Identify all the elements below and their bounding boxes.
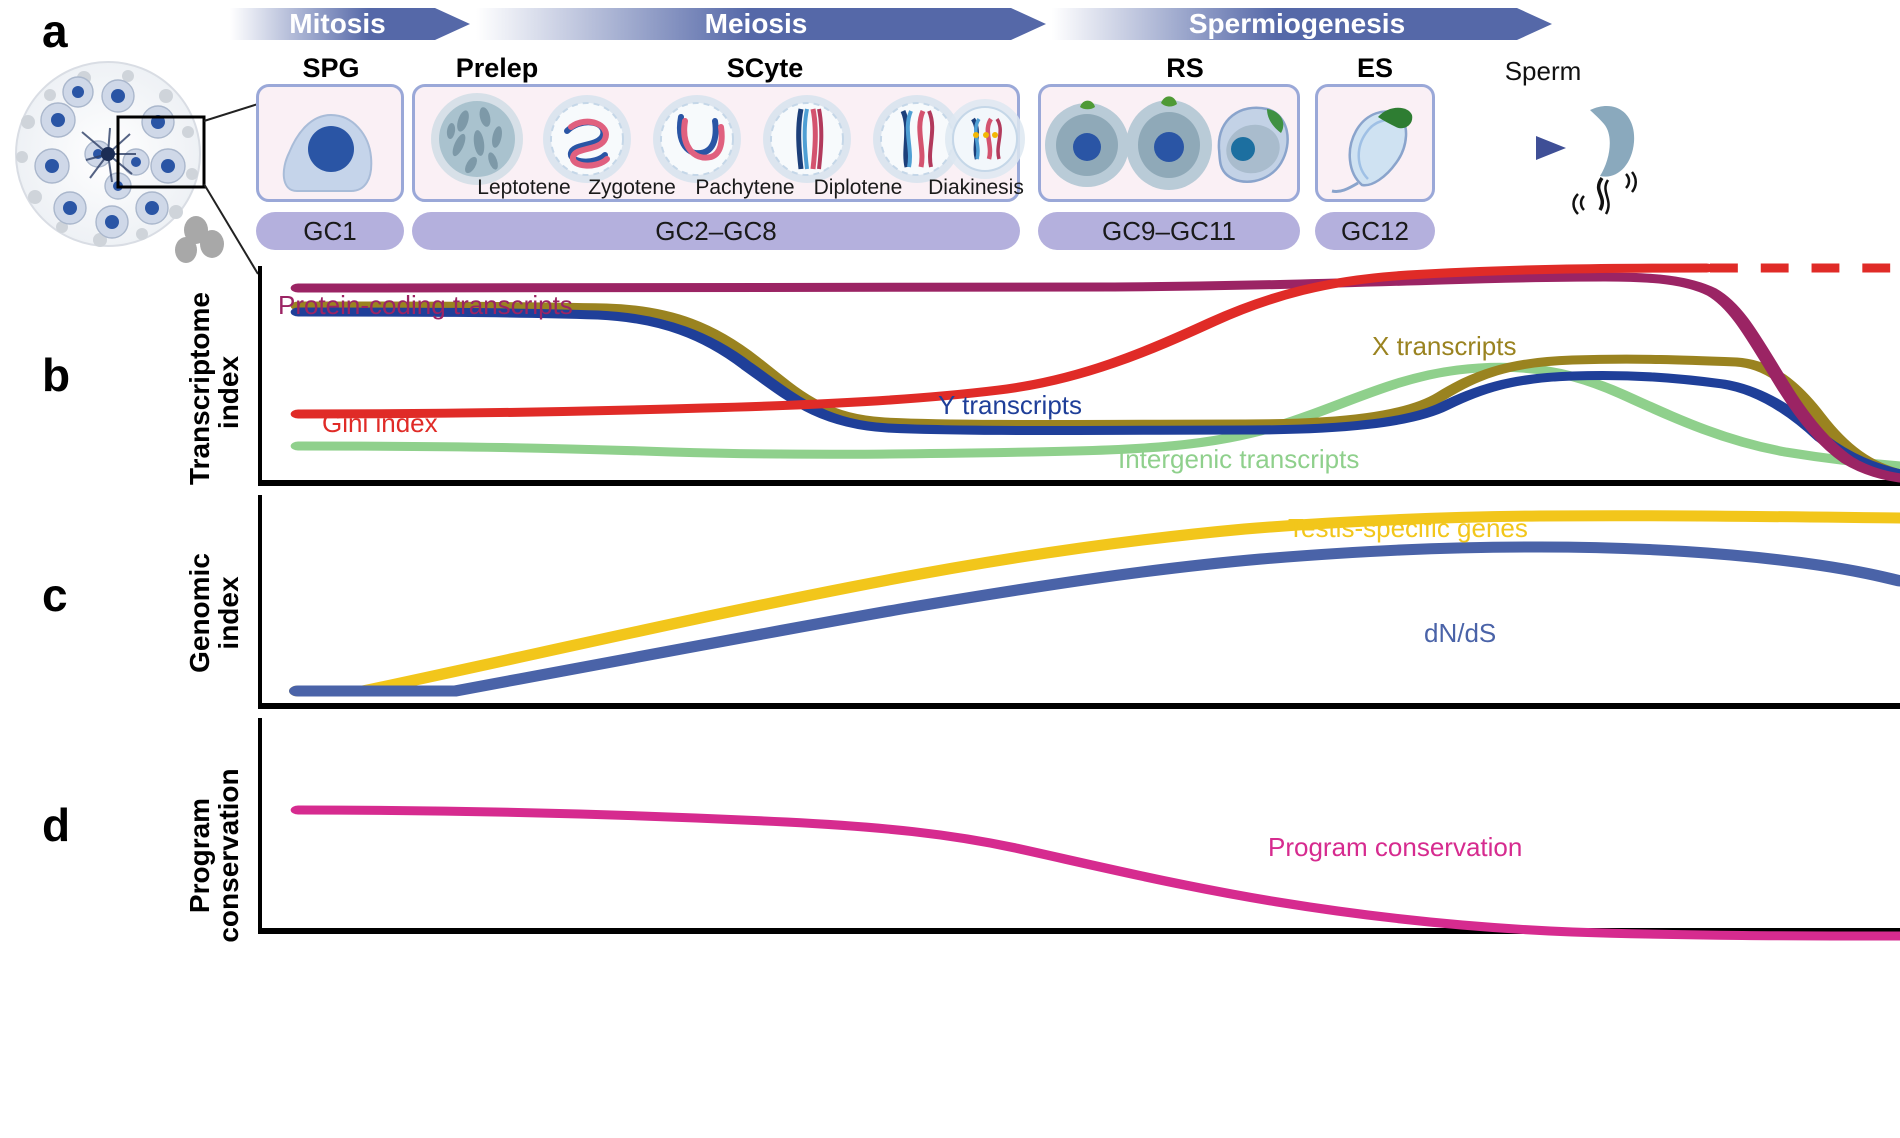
curve-label-protein-coding-transcripts: Protein-coding transcripts [278,290,573,321]
panel-c-ylabel: Genomic index [185,518,225,708]
curve-dn-ds [298,547,1900,691]
curve-label-gini-index: Gini index [322,408,438,439]
stage-arrow-label: Mitosis [289,8,385,40]
gc-bar-gc9-gc11: GC9–GC11 [1038,212,1300,250]
gc-bar-label: GC12 [1341,216,1409,247]
stage-arrow-label: Meiosis [705,8,808,40]
sperm-label: Sperm [1468,56,1618,87]
stage-name-prelep: Prelep [412,53,582,84]
gc-bar-label: GC2–GC8 [655,216,776,247]
panel-letter-d: d [42,802,70,848]
cell-box-es [1315,84,1435,202]
curve-label-y-transcripts: Y transcripts [938,390,1082,421]
gc-bar-gc12: GC12 [1315,212,1435,250]
curve-testis-specific-genes [298,516,1900,691]
panel-b-ylabel: Transcriptome index [185,300,225,485]
gc-bar-gc1: GC1 [256,212,404,250]
stage-name-spg: SPG [256,53,406,84]
panel-letter-c: c [42,572,68,618]
stage-arrow-mitosis: Mitosis [230,3,470,45]
curve-program-conservation [298,810,1900,936]
panel-d-plot [262,718,1900,930]
gc-bar-label: GC9–GC11 [1102,216,1236,247]
testis-cross-section-illustration [0,62,235,262]
curve-intergenic-transcripts [298,367,1900,466]
stage-name-scyte: SCyte [680,53,850,84]
curve-label-program-conservation: Program conservation [1268,832,1522,863]
stage-arrow-spermiogenesis: Spermiogenesis [1052,3,1552,45]
panel-d-ylabel: Program conservation [185,748,225,963]
gc-bar-gc2-gc8: GC2–GC8 [412,212,1020,250]
panel-c-plot [262,495,1900,705]
cell-box-rs [1038,84,1300,202]
stage-name-es: ES [1315,53,1435,84]
transition-arrow-to-sperm [1440,130,1570,166]
curve-label-testis-specific-genes: Testis-specific genes [1288,513,1528,544]
curve-label-intergenic-transcripts: Intergenic transcripts [1118,444,1359,475]
cell-box-spg [256,84,404,202]
stage-arrow-label: Spermiogenesis [1189,8,1405,40]
sperm-illustration [1570,92,1680,222]
curve-label-x-transcripts: X transcripts [1372,331,1517,362]
stage-arrow-meiosis: Meiosis [476,3,1046,45]
stage-name-rs: RS [1110,53,1260,84]
gc-bar-label: GC1 [303,216,356,247]
panel-letter-a: a [42,8,68,54]
panel-letter-b: b [42,352,70,398]
curve-label-dn-ds: dN/dS [1424,618,1496,649]
